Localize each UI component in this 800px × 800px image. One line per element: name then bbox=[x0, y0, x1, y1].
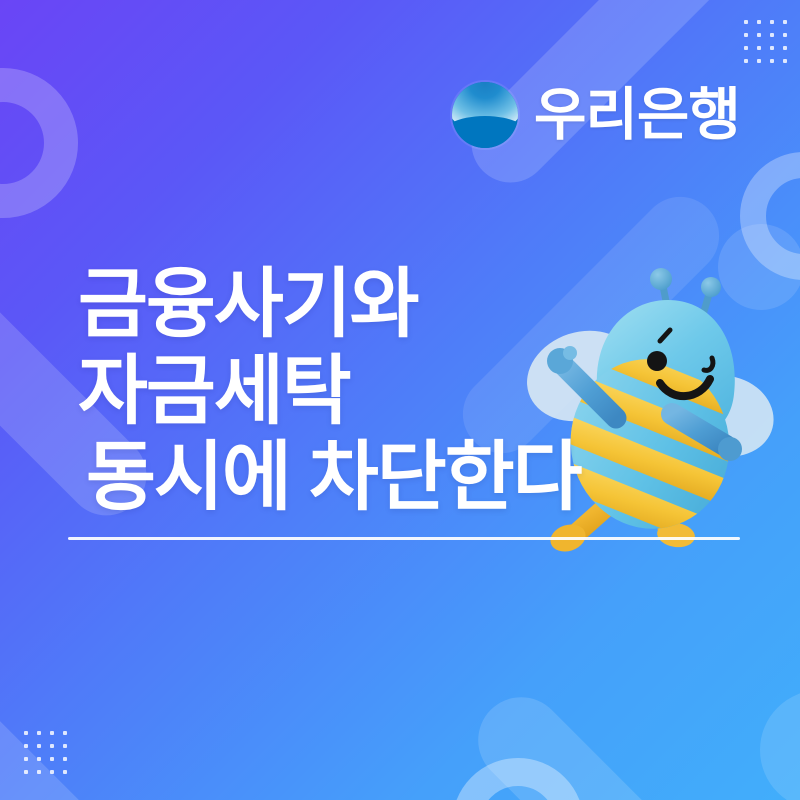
ring-left bbox=[0, 68, 78, 218]
headline-underline bbox=[68, 537, 740, 540]
dot-grid-top-right bbox=[744, 20, 787, 63]
dot-grid-bottom-left bbox=[24, 731, 67, 774]
brand-lockup: 우리은행 bbox=[452, 82, 740, 148]
circle-right-edge bbox=[760, 690, 800, 800]
headline-block: 금융사기와 자금세탁 동시에 차단한다 bbox=[78, 262, 581, 522]
headline-line-2: 자금세탁 bbox=[78, 349, 581, 436]
diagonal-bar-bottom-middle bbox=[460, 679, 761, 800]
promo-poster: 우리은행 금융사기와 자금세탁 동시에 차단한다 bbox=[0, 0, 800, 800]
diagonal-bar-bottom-left bbox=[0, 622, 113, 800]
headline-line-1: 금융사기와 bbox=[78, 262, 581, 349]
ring-bottom bbox=[452, 758, 584, 800]
brand-name: 우리은행 bbox=[534, 87, 740, 144]
headline-line-3: 동시에 차단한다 bbox=[78, 435, 581, 522]
logo-wave-shape bbox=[452, 116, 518, 148]
woori-bank-logo-icon bbox=[452, 82, 518, 148]
